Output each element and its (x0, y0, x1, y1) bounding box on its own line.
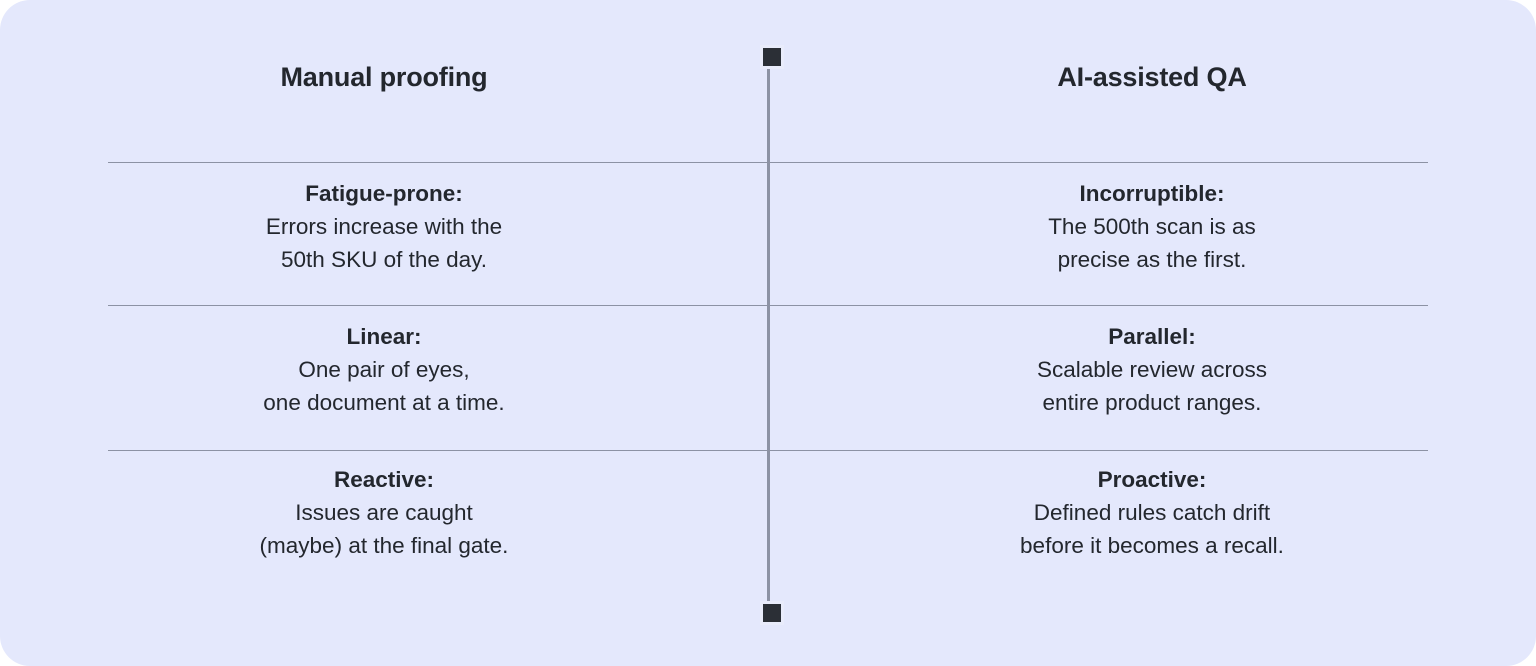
column-divider-line[interactable] (767, 57, 770, 613)
cell-description: Defined rules catch drift before it beco… (1020, 496, 1284, 562)
cell-term: Reactive: (334, 463, 434, 496)
cell-description: Scalable review across entire product ra… (1037, 353, 1267, 419)
divider-handle-bottom[interactable] (760, 601, 784, 625)
column-ai-assisted-qa: AI-assisted QA Incorruptible: The 500th … (768, 0, 1536, 666)
cell-left-row-3: Reactive: Issues are caught (maybe) at t… (236, 441, 533, 584)
cell-term: Parallel: (1108, 320, 1196, 353)
column-header-right: AI-assisted QA (1057, 0, 1246, 155)
cell-term: Linear: (346, 320, 421, 353)
cell-left-row-2: Linear: One pair of eyes, one document a… (239, 298, 528, 441)
cell-description-line: (maybe) at the final gate. (260, 529, 509, 562)
cell-right-row-2: Parallel: Scalable review across entire … (1013, 298, 1291, 441)
cell-description-line: One pair of eyes, (263, 353, 504, 386)
cell-right-row-1: Incorruptible: The 500th scan is as prec… (1024, 155, 1280, 298)
cell-description-line: Defined rules catch drift (1020, 496, 1284, 529)
cell-description-line: one document at a time. (263, 386, 504, 419)
cell-description: One pair of eyes, one document at a time… (263, 353, 504, 419)
cell-term: Proactive: (1098, 463, 1207, 496)
cell-description-line: The 500th scan is as (1048, 210, 1256, 243)
cell-term: Fatigue-prone: (305, 177, 463, 210)
divider-handle-top[interactable] (760, 45, 784, 69)
cell-left-row-1: Fatigue-prone: Errors increase with the … (242, 155, 526, 298)
cell-description: Errors increase with the 50th SKU of the… (266, 210, 502, 276)
cell-description-line: before it becomes a recall. (1020, 529, 1284, 562)
cell-right-row-3: Proactive: Defined rules catch drift bef… (996, 441, 1308, 584)
cell-description-line: Issues are caught (260, 496, 509, 529)
cell-description-line: Scalable review across (1037, 353, 1267, 386)
cell-description-line: precise as the first. (1048, 243, 1256, 276)
cell-description: Issues are caught (maybe) at the final g… (260, 496, 509, 562)
comparison-card: Manual proofing Fatigue-prone: Errors in… (0, 0, 1536, 666)
cell-description-line: 50th SKU of the day. (266, 243, 502, 276)
column-header-left: Manual proofing (281, 0, 488, 155)
column-manual-proofing: Manual proofing Fatigue-prone: Errors in… (0, 0, 768, 666)
cell-description-line: entire product ranges. (1037, 386, 1267, 419)
cell-description: The 500th scan is as precise as the firs… (1048, 210, 1256, 276)
cell-term: Incorruptible: (1080, 177, 1225, 210)
cell-description-line: Errors increase with the (266, 210, 502, 243)
